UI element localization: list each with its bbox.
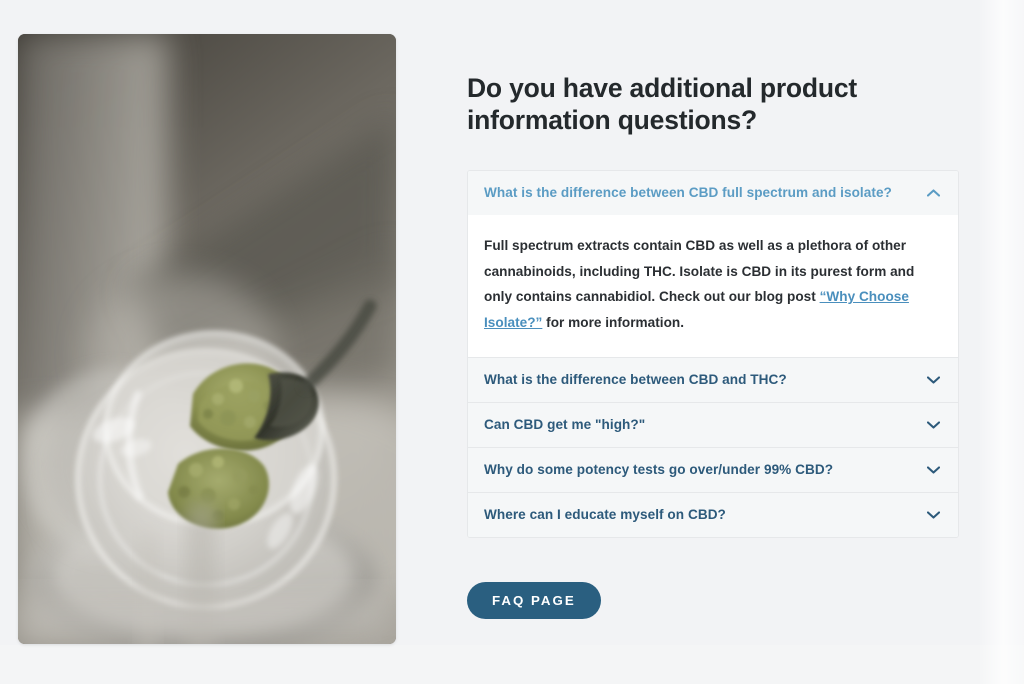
accordion-answer: Full spectrum extracts contain CBD as we… bbox=[484, 233, 934, 335]
accordion-question: Can CBD get me "high?" bbox=[484, 417, 645, 433]
footer-band bbox=[0, 645, 1024, 684]
accordion-item: Why do some potency tests go over/under … bbox=[468, 447, 958, 492]
answer-text-after: for more information. bbox=[542, 315, 684, 330]
product-image-card bbox=[18, 34, 396, 644]
accordion-question: What is the difference between CBD and T… bbox=[484, 372, 787, 388]
accordion-header[interactable]: Why do some potency tests go over/under … bbox=[468, 448, 958, 492]
accordion-question: Why do some potency tests go over/under … bbox=[484, 462, 833, 478]
accordion-item: Can CBD get me "high?" bbox=[468, 402, 958, 447]
cannabis-jar-photo bbox=[18, 34, 396, 644]
accordion-question: What is the difference between CBD full … bbox=[484, 185, 892, 201]
faq-page: Do you have additional product informati… bbox=[0, 0, 1024, 684]
accordion-item: Where can I educate myself on CBD? bbox=[468, 492, 958, 537]
chevron-down-icon[interactable] bbox=[926, 418, 940, 432]
accordion-header[interactable]: What is the difference between CBD and T… bbox=[468, 358, 958, 402]
faq-accordion: What is the difference between CBD full … bbox=[467, 170, 959, 538]
accordion-panel: Full spectrum extracts contain CBD as we… bbox=[468, 215, 958, 357]
chevron-down-icon[interactable] bbox=[926, 463, 940, 477]
accordion-header[interactable]: What is the difference between CBD full … bbox=[468, 171, 958, 215]
chevron-down-icon[interactable] bbox=[926, 373, 940, 387]
chevron-down-icon[interactable] bbox=[926, 508, 940, 522]
chevron-up-icon[interactable] bbox=[926, 186, 940, 200]
accordion-item: What is the difference between CBD and T… bbox=[468, 357, 958, 402]
page-title: Do you have additional product informati… bbox=[467, 72, 867, 136]
accordion-question: Where can I educate myself on CBD? bbox=[484, 507, 726, 523]
accordion-item: What is the difference between CBD full … bbox=[468, 171, 958, 357]
accordion-header[interactable]: Where can I educate myself on CBD? bbox=[468, 493, 958, 537]
faq-page-button[interactable]: FAQ PAGE bbox=[467, 582, 601, 619]
faq-content-column: Do you have additional product informati… bbox=[467, 34, 959, 619]
page-right-edge bbox=[978, 0, 1024, 684]
accordion-header[interactable]: Can CBD get me "high?" bbox=[468, 403, 958, 447]
